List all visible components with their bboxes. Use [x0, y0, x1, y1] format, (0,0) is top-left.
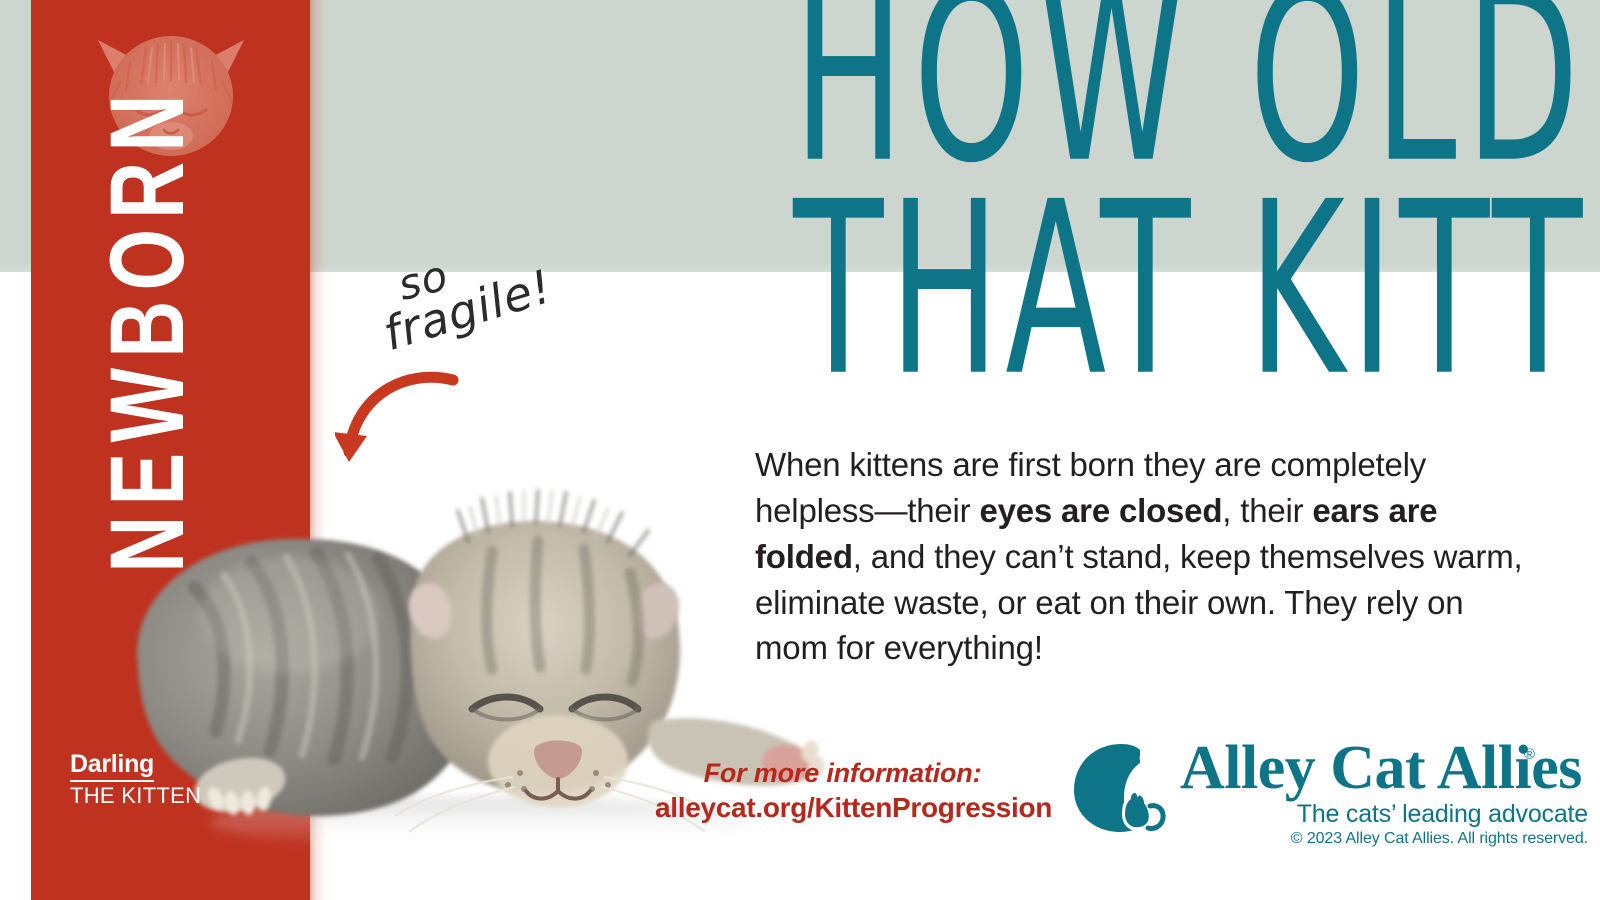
kitten-name-block: Darling THE KITTEN — [70, 752, 260, 807]
curved-arrow-down-left-icon — [335, 360, 465, 490]
more-information-block: For more information: alleycat.org/Kitte… — [655, 758, 1030, 825]
more-information-url[interactable]: alleycat.org/KittenProgression — [655, 791, 1030, 825]
page-title: HOW OLD IS THAT KITTEN? — [690, 32, 1550, 399]
description-emphasis: eyes are closed — [979, 492, 1222, 529]
kitten-name-subtitle: THE KITTEN — [70, 785, 260, 807]
page-title-line2: THAT KITTEN? — [793, 180, 1550, 399]
description-paragraph: When kittens are first born they are com… — [755, 442, 1545, 671]
brand-tagline: The cats’ leading advocate — [1297, 800, 1588, 829]
registered-mark: ® — [1524, 746, 1535, 763]
brand-name: Alley Cat Allies — [1180, 736, 1582, 801]
poster-canvas: NEWBORN Darling THE KITTEN — [0, 0, 1600, 900]
cat-and-kitten-circle-icon — [1068, 740, 1174, 836]
more-information-label: For more information: — [655, 758, 1030, 789]
brand-logo: Alley Cat Allies ® The cats’ leading adv… — [1068, 738, 1588, 858]
description-text: , their — [1222, 492, 1312, 529]
copyright-notice: © 2023 Alley Cat Allies. All rights rese… — [1291, 830, 1588, 848]
description-text: , and they can’t stand, keep themselves … — [755, 538, 1522, 667]
kitten-name: Darling — [70, 752, 154, 782]
